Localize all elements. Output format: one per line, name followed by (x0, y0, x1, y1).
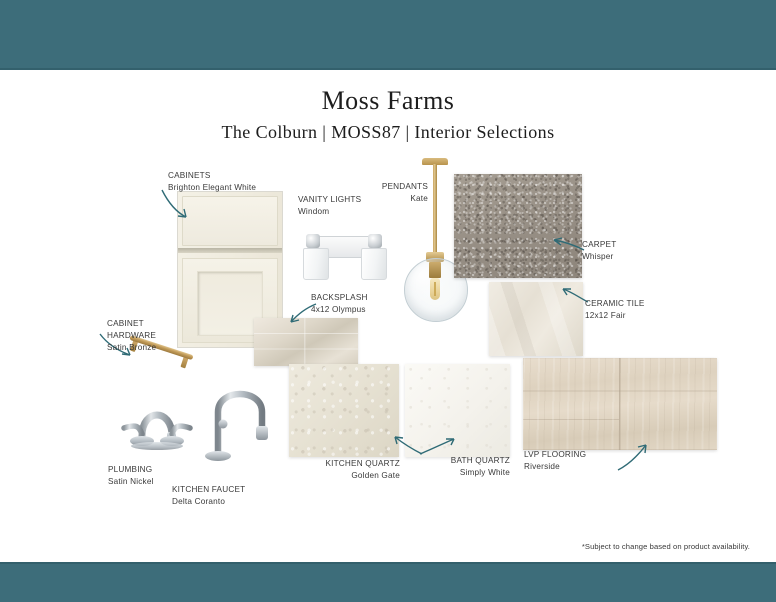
label-backsplash-product: 4x12 Olympus (311, 304, 368, 316)
label-ceramic-tile-product: 12x12 Fair (585, 310, 645, 322)
pendant-stem (433, 164, 437, 256)
vanity-arm-left (306, 234, 320, 248)
label-kitchen-quartz: KITCHEN QUARTZ Golden Gate (308, 458, 400, 482)
label-carpet-category: CARPET (582, 239, 616, 251)
bath-faucet-image (112, 386, 200, 450)
label-kitchen-quartz-category: KITCHEN QUARTZ (308, 458, 400, 470)
vanity-light-image (300, 226, 388, 282)
page-subtitle: The Colburn | MOSS87 | Interior Selectio… (0, 122, 776, 143)
label-ceramic-tile: CERAMIC TILE 12x12 Fair (585, 298, 645, 322)
label-lvp-flooring-category: LVP FLOORING (524, 449, 586, 461)
label-cabinet-hardware-category-line1: CABINET (107, 318, 156, 330)
label-carpet: CARPET Whisper (582, 239, 616, 263)
pendant-filament (434, 282, 436, 296)
label-cabinets-category: CABINETS (168, 170, 256, 182)
cabinet-reveal-gap (178, 248, 282, 253)
label-kitchen-quartz-product: Golden Gate (308, 470, 400, 482)
label-cabinets: CABINETS Brighton Elegant White (168, 170, 256, 194)
label-kitchen-faucet-product: Delta Coranto (172, 496, 245, 508)
label-vanity-lights-category: VANITY LIGHTS (298, 194, 361, 206)
lvp-plank-seam (523, 419, 619, 420)
label-kitchen-faucet-category: KITCHEN FAUCET (172, 484, 245, 496)
label-carpet-product: Whisper (582, 251, 616, 263)
pendant-socket (429, 262, 441, 278)
label-plumbing-product: Satin Nickel (108, 476, 154, 488)
footer-bar (0, 562, 776, 602)
label-cabinet-hardware-category-line2: HARDWARE (107, 330, 156, 342)
label-pendants-category: PENDANTS (360, 181, 428, 193)
label-bath-quartz: BATH QUARTZ Simply White (420, 455, 510, 479)
lvp-flooring-arrow (614, 440, 654, 474)
title-block: Moss Farms The Colburn | MOSS87 | Interi… (0, 86, 776, 143)
label-plumbing-category: PLUMBING (108, 464, 154, 476)
label-backsplash-category: BACKSPLASH (311, 292, 368, 304)
label-vanity-lights-product: Windom (298, 206, 361, 218)
label-lvp-flooring-product: Riverside (524, 461, 586, 473)
disclaimer-text: *Subject to change based on product avai… (582, 542, 750, 551)
lvp-flooring-swatch (523, 358, 717, 450)
label-cabinets-product: Brighton Elegant White (168, 182, 256, 194)
label-cabinet-hardware: CABINET HARDWARE Satin Bronze (107, 318, 156, 354)
label-ceramic-tile-category: CERAMIC TILE (585, 298, 645, 310)
carpet-swatch (454, 174, 582, 278)
vanity-arm-right (368, 234, 382, 248)
label-lvp-flooring: LVP FLOORING Riverside (524, 449, 586, 473)
label-bath-quartz-category: BATH QUARTZ (420, 455, 510, 467)
label-plumbing: PLUMBING Satin Nickel (108, 464, 154, 488)
label-kitchen-faucet: KITCHEN FAUCET Delta Coranto (172, 484, 245, 508)
kitchen-faucet-image (204, 378, 280, 464)
label-pendants: PENDANTS Kate (360, 181, 428, 205)
header-bar (0, 0, 776, 70)
vanity-shade-left (303, 248, 329, 280)
label-backsplash: BACKSPLASH 4x12 Olympus (311, 292, 368, 316)
page-title: Moss Farms (0, 86, 776, 116)
label-bath-quartz-product: Simply White (420, 467, 510, 479)
label-vanity-lights: VANITY LIGHTS Windom (298, 194, 361, 218)
label-pendants-product: Kate (360, 193, 428, 205)
label-cabinet-hardware-product: Satin Bronze (107, 342, 156, 354)
vanity-shade-right (361, 248, 387, 280)
kitchen-quartz-swatch (289, 364, 399, 457)
